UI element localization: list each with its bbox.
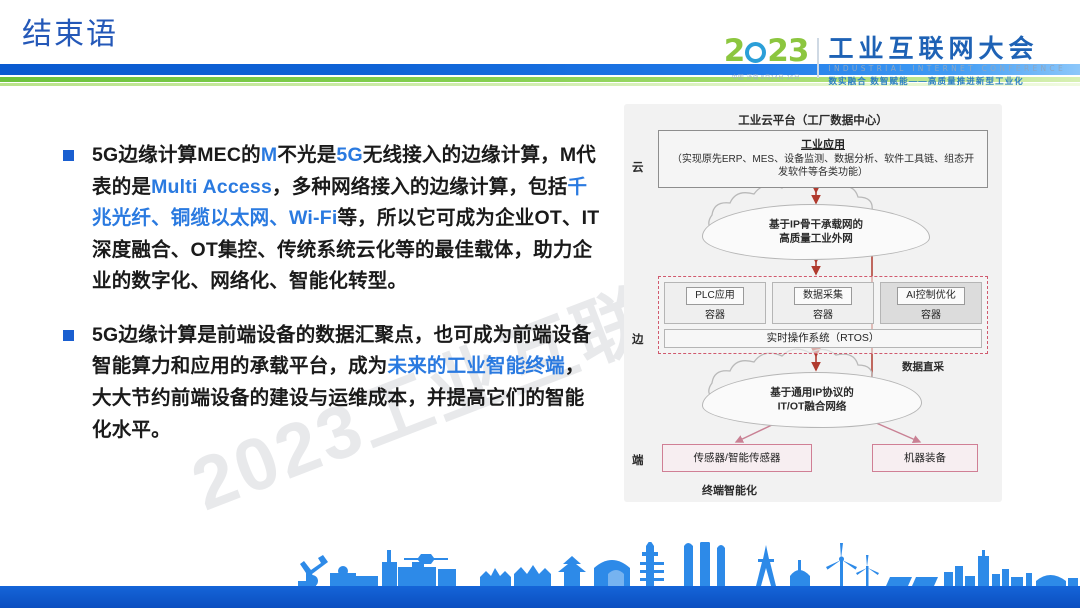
text-run-6: ，多种网络接入的边缘计算，包括 bbox=[272, 176, 568, 198]
logo-name-cn: 工业互联网大会 bbox=[828, 36, 1066, 62]
terminal-machine-box: 机器装备 bbox=[872, 444, 978, 472]
layer-label-end: 端 bbox=[632, 452, 644, 468]
cloud-backbone-label: 基于IP骨干承载网的 高质量工业外网 bbox=[703, 218, 929, 245]
layer-label-cloud: 云 bbox=[632, 159, 644, 175]
diagram-caption: 终端智能化 bbox=[702, 482, 757, 498]
logo-divider bbox=[817, 38, 819, 78]
logo-year: 223 bbox=[724, 36, 809, 67]
cloud-backbone-network: 基于IP骨干承载网的 高质量工业外网 bbox=[702, 204, 930, 260]
edge-layer-box: PLC应用 容器 数据采集 容器 AI控制优化 容器 实时操作系统（RTOS） bbox=[658, 276, 988, 354]
logo-name-en: INDUSTRIAL INTERNET CONFERENCE bbox=[828, 64, 1066, 73]
logo-year-digit-1: 2 bbox=[724, 33, 745, 69]
footer-water-band bbox=[0, 586, 1080, 608]
skyline-silhouette-icon bbox=[0, 542, 1080, 590]
terminal-sensor-box: 传感器/智能传感器 bbox=[662, 444, 812, 472]
container-ai-control: AI控制优化 容器 bbox=[880, 282, 982, 324]
logo-year-digit-3: 3 bbox=[788, 33, 809, 69]
logo-year-block: 223 中国·济南 8月14日-16日 bbox=[724, 36, 818, 81]
content-column: 5G边缘计算MEC的M不光是5G无线接入的边缘计算，M代表的是Multi Acc… bbox=[60, 140, 600, 468]
cloud-backbone-line1: 基于IP骨干承载网的 bbox=[769, 218, 863, 230]
text-run-3: 5G bbox=[336, 144, 362, 166]
app-box-desc: （实现原先ERP、MES、设备监测、数据分析、软件工具链、组态开发软件等各类功能… bbox=[659, 154, 987, 180]
container-data-title: 数据采集 bbox=[794, 287, 852, 305]
layer-label-edge: 边 bbox=[632, 331, 644, 347]
container-ai-title: AI控制优化 bbox=[897, 287, 964, 305]
conference-logo: 223 中国·济南 8月14日-16日 工业互联网大会 INDUSTRIAL I… bbox=[724, 36, 1066, 86]
logo-year-digit-2: 2 bbox=[767, 33, 788, 69]
text-run-5: Multi Access bbox=[151, 176, 272, 198]
container-plc: PLC应用 容器 bbox=[664, 282, 766, 324]
cloud-field-label: 基于通用IP协议的 IT/OT融合网络 bbox=[703, 386, 921, 413]
cloud-field-line2: IT/OT融合网络 bbox=[778, 400, 847, 412]
slide-root: 结束语 223 中国·济南 8月14日-16日 工业互联网大会 INDUSTRI… bbox=[0, 0, 1080, 608]
logo-slogan: 数实融合 数智赋能——高质量推进新型工业化 bbox=[828, 75, 1066, 87]
page-title: 结束语 bbox=[22, 18, 118, 51]
container-data-collection: 数据采集 容器 bbox=[772, 282, 874, 324]
bullet-text-1: 5G边缘计算MEC的M不光是5G无线接入的边缘计算，M代表的是Multi Acc… bbox=[92, 140, 600, 298]
text-run-2: 不光是 bbox=[277, 144, 336, 166]
direct-collection-label: 数据直采 bbox=[902, 359, 944, 374]
logo-name-block: 工业互联网大会 INDUSTRIAL INTERNET CONFERENCE 数… bbox=[828, 36, 1066, 87]
container-plc-title: PLC应用 bbox=[686, 287, 743, 305]
container-row: PLC应用 容器 数据采集 容器 AI控制优化 容器 bbox=[664, 282, 982, 324]
container-data-sub: 容器 bbox=[773, 306, 873, 321]
industrial-application-box: 工业应用 （实现原先ERP、MES、设备监测、数据分析、软件工具链、组态开发软件… bbox=[658, 130, 988, 188]
bullet-item-2: 5G边缘计算是前端设备的数据汇聚点，也可成为前端设备智能算力和应用的承载平台，成… bbox=[60, 320, 600, 446]
app-box-title: 工业应用 bbox=[659, 136, 987, 152]
diagram-title: 工业云平台（工厂数据中心） bbox=[624, 112, 1002, 128]
cloud-field-network: 基于通用IP协议的 IT/OT融合网络 bbox=[702, 372, 922, 428]
bullet-text-2: 5G边缘计算是前端设备的数据汇聚点，也可成为前端设备智能算力和应用的承载平台，成… bbox=[92, 320, 600, 446]
cloud-backbone-line2: 高质量工业外网 bbox=[779, 232, 853, 244]
rtos-bar: 实时操作系统（RTOS） bbox=[664, 329, 982, 348]
architecture-diagram: 工业云平台（工厂数据中心） 云 边 端 工业应用 （实现原先ERP、MES、设备… bbox=[624, 104, 1002, 502]
text-run-1: M bbox=[261, 144, 277, 166]
bullet-square-icon bbox=[63, 330, 74, 341]
logo-ring-icon bbox=[745, 42, 766, 63]
text-run-1: 未来的工业智能终端 bbox=[388, 355, 565, 377]
cloud-field-line1: 基于通用IP协议的 bbox=[770, 386, 853, 398]
bullet-item-1: 5G边缘计算MEC的M不光是5G无线接入的边缘计算，M代表的是Multi Acc… bbox=[60, 140, 600, 298]
container-plc-sub: 容器 bbox=[665, 306, 765, 321]
text-run-0: 5G边缘计算MEC的 bbox=[92, 144, 261, 166]
logo-date: 中国·济南 8月14日-16日 bbox=[732, 72, 800, 81]
bullet-square-icon bbox=[63, 150, 74, 161]
container-ai-sub: 容器 bbox=[881, 306, 981, 321]
footer-skyline bbox=[0, 548, 1080, 608]
